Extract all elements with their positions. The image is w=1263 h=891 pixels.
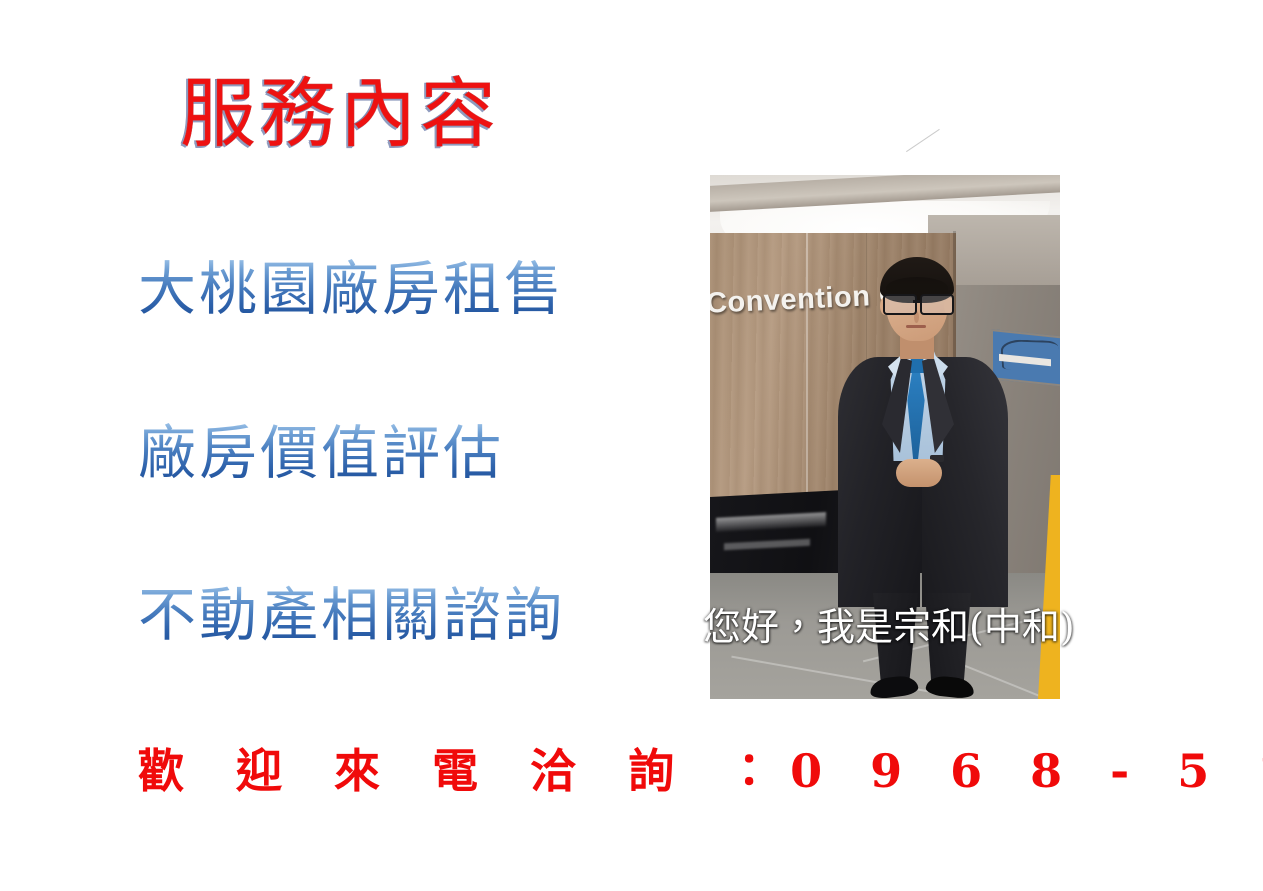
mouth [906,325,926,328]
shoe-right [925,675,975,699]
service-item-2: 廠房價值評估 [138,422,504,486]
page-title: 服務內容 [180,74,500,154]
diagonal-scratch-mark [906,129,940,153]
eyeglasses-icon [882,294,952,312]
lens-left [883,294,917,315]
slide-canvas: 服務內容 大桃園廠房租售 廠房價值評估 不動產相關諮詢 Convention C… [0,0,1263,891]
contact-line: 歡 迎 來 電 洽 詢 ：0 9 6 8 - 5 1 9 - 8 8 8 [138,748,1263,794]
contact-label: 歡 迎 來 電 洽 詢 ： [138,744,790,798]
photo-caption: 您好，我是宗和(中和) [703,608,1075,646]
glasses-bridge [913,300,921,303]
service-item-1: 大桃園廠房租售 [138,258,565,322]
contact-phone-number[interactable]: 0 9 6 8 - 5 1 9 - 8 8 8 [790,744,1263,798]
lens-right [920,294,954,315]
shoe-left [869,674,919,699]
service-item-3: 不動產相關諮詢 [138,584,565,648]
clasped-hands [896,459,942,487]
